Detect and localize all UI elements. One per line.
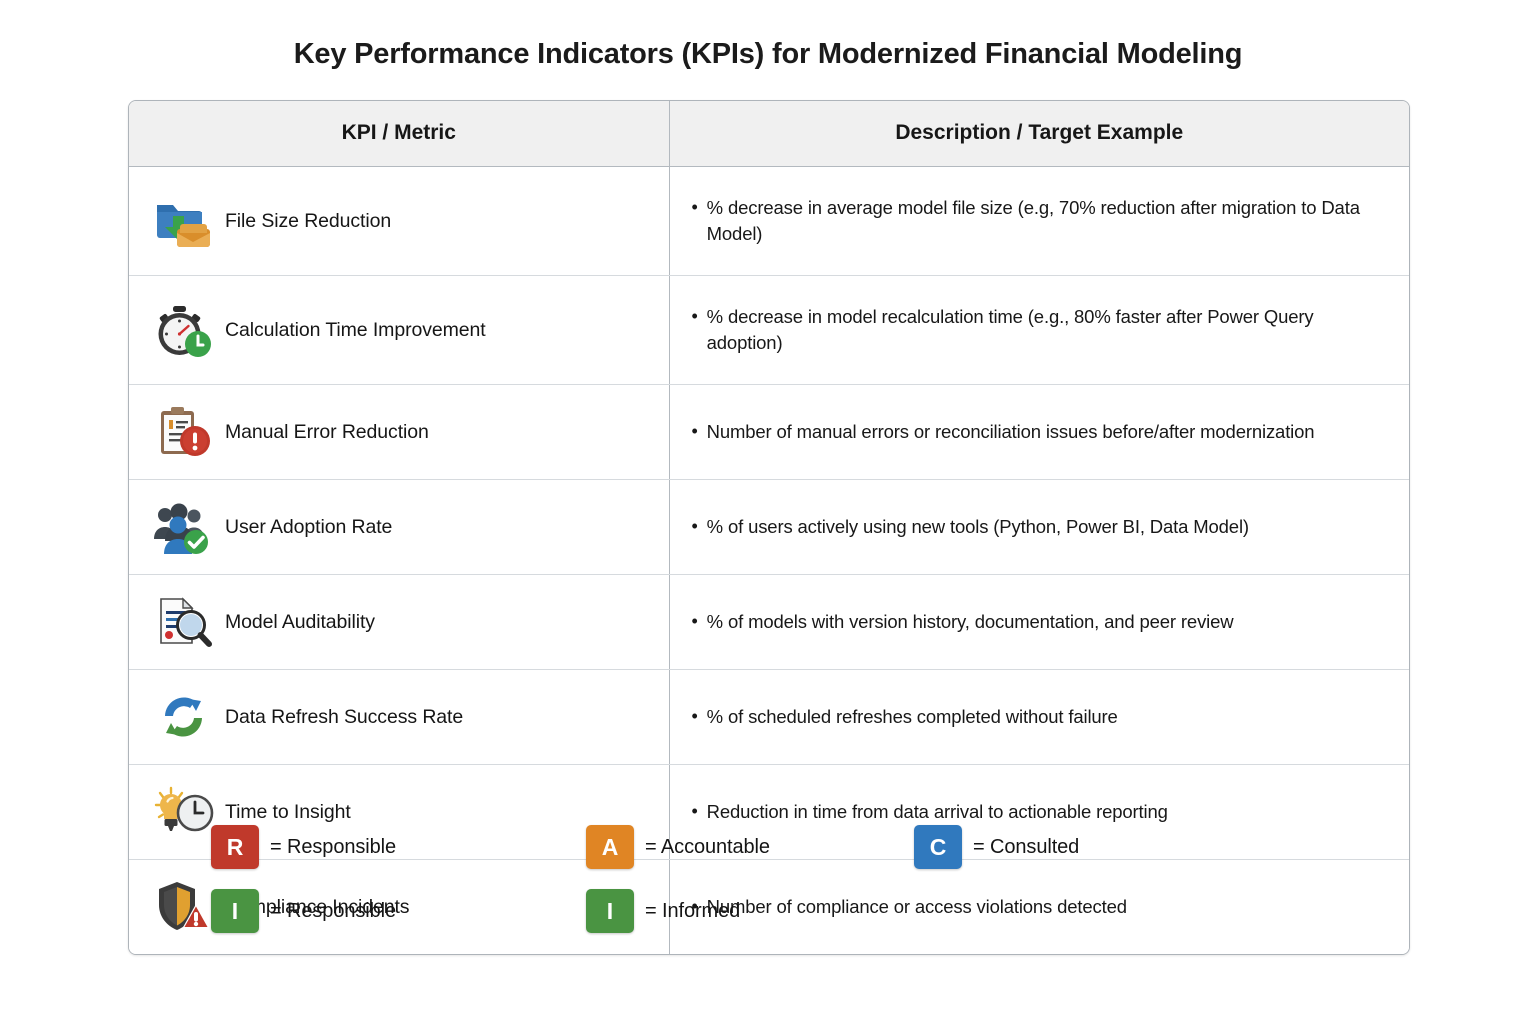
metric-label: User Adoption Rate bbox=[225, 516, 392, 539]
table-row: User Adoption Rate • % of users actively… bbox=[129, 480, 1409, 575]
kpi-infographic-page: Key Performance Indicators (KPIs) for Mo… bbox=[0, 0, 1536, 1024]
clipboard-error-icon bbox=[153, 404, 215, 460]
table-row: Data Refresh Success Rate • % of schedul… bbox=[129, 670, 1409, 765]
header-description: Description / Target Example bbox=[669, 101, 1409, 167]
shield-warning-icon bbox=[153, 879, 215, 935]
metric-cell: File Size Reduction bbox=[129, 167, 669, 276]
table-row: Manual Error Reduction • Number of manua… bbox=[129, 385, 1409, 480]
table-header: KPI / Metric Description / Target Exampl… bbox=[129, 101, 1409, 167]
metric-cell: User Adoption Rate bbox=[129, 480, 669, 575]
metric-label: File Size Reduction bbox=[225, 210, 391, 233]
bullet-icon: • bbox=[692, 609, 698, 635]
bullet-icon: • bbox=[692, 419, 698, 445]
page-title: Key Performance Indicators (KPIs) for Mo… bbox=[0, 38, 1536, 71]
legend-label-a: = Accountable bbox=[645, 836, 770, 859]
metric-label: Calculation Time Improvement bbox=[225, 319, 486, 342]
metric-label: Manual Error Reduction bbox=[225, 421, 429, 444]
description-cell: • % of users actively using new tools (P… bbox=[669, 480, 1409, 575]
description-text: % decrease in model recalculation time (… bbox=[707, 304, 1383, 357]
badge-c: C bbox=[914, 825, 962, 869]
legend-item-accountable: A = Accountable bbox=[586, 825, 914, 869]
raci-legend: R = Responsible A = Accountable C = Cons… bbox=[211, 815, 1311, 943]
table-row: Model Auditability • % of models with ve… bbox=[129, 575, 1409, 670]
description-text: % of users actively using new tools (Pyt… bbox=[707, 514, 1249, 540]
legend-label-r: = Responsible bbox=[270, 836, 396, 859]
metric-label: Data Refresh Success Rate bbox=[225, 706, 463, 729]
bullet-icon: • bbox=[692, 304, 698, 330]
legend-row-bottom: I = Responsible I = Informed bbox=[211, 879, 1311, 943]
description-cell: • Number of manual errors or reconciliat… bbox=[669, 385, 1409, 480]
description-cell: • % of models with version history, docu… bbox=[669, 575, 1409, 670]
legend-row-top: R = Responsible A = Accountable C = Cons… bbox=[211, 815, 1311, 879]
badge-a: A bbox=[586, 825, 634, 869]
bullet-icon: • bbox=[692, 514, 698, 540]
legend-item-consulted: C = Consulted bbox=[914, 825, 1214, 869]
header-row: KPI / Metric Description / Target Exampl… bbox=[129, 101, 1409, 167]
legend-item-responsible-r: R = Responsible bbox=[211, 825, 586, 869]
users-check-icon bbox=[153, 499, 215, 555]
legend-label-i-informed: = Informed bbox=[645, 900, 740, 923]
folder-download-icon bbox=[153, 193, 215, 249]
stopwatch-clock-icon bbox=[153, 302, 215, 358]
table-row: Calculation Time Improvement • % decreas… bbox=[129, 276, 1409, 385]
metric-cell: Data Refresh Success Rate bbox=[129, 670, 669, 765]
metric-cell: Manual Error Reduction bbox=[129, 385, 669, 480]
bullet-icon: • bbox=[692, 704, 698, 730]
description-text: % of models with version history, docume… bbox=[707, 609, 1234, 635]
legend-label-c: = Consulted bbox=[973, 836, 1079, 859]
description-text: Number of manual errors or reconciliatio… bbox=[707, 419, 1315, 445]
bullet-icon: • bbox=[692, 195, 698, 221]
table-row: File Size Reduction • % decrease in aver… bbox=[129, 167, 1409, 276]
header-kpi-metric: KPI / Metric bbox=[129, 101, 669, 167]
badge-i-informed: I bbox=[586, 889, 634, 933]
legend-item-informed: I = Informed bbox=[586, 889, 914, 933]
badge-i-responsible: I bbox=[211, 889, 259, 933]
badge-r: R bbox=[211, 825, 259, 869]
description-cell: • % of scheduled refreshes completed wit… bbox=[669, 670, 1409, 765]
metric-cell: Calculation Time Improvement bbox=[129, 276, 669, 385]
description-text: % of scheduled refreshes completed witho… bbox=[707, 704, 1118, 730]
description-cell: • % decrease in average model file size … bbox=[669, 167, 1409, 276]
description-cell: • % decrease in model recalculation time… bbox=[669, 276, 1409, 385]
legend-label-i-responsible: = Responsible bbox=[270, 900, 396, 923]
legend-item-responsible-i: I = Responsible bbox=[211, 889, 586, 933]
metric-label: Model Auditability bbox=[225, 611, 375, 634]
lightbulb-clock-icon bbox=[153, 784, 215, 840]
document-magnifier-icon bbox=[153, 594, 215, 650]
metric-cell: Model Auditability bbox=[129, 575, 669, 670]
description-text: % decrease in average model file size (e… bbox=[707, 195, 1383, 248]
refresh-arrows-icon bbox=[153, 689, 215, 745]
